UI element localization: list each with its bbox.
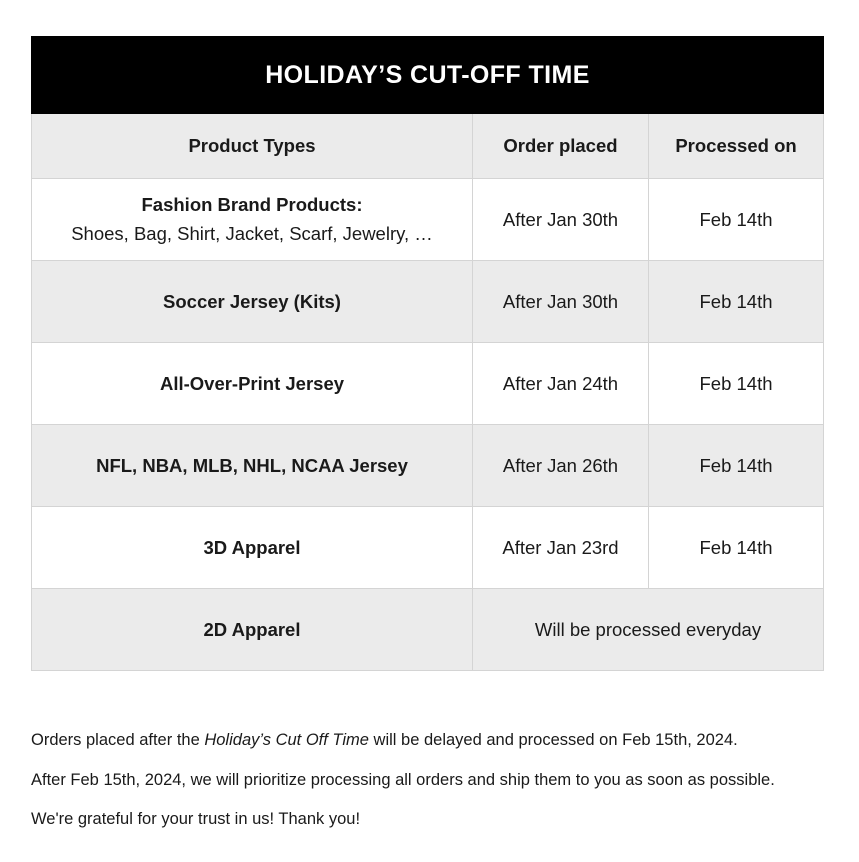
cell-product-type: All-Over-Print Jersey — [32, 343, 473, 425]
table-row: 3D Apparel After Jan 23rd Feb 14th — [32, 507, 824, 589]
cell-processed-on: Feb 14th — [649, 425, 824, 507]
footer-note-line-1-after: will be delayed and processed on Feb 15t… — [369, 731, 738, 749]
cell-product-type: NFL, NBA, MLB, NHL, NCAA Jersey — [32, 425, 473, 507]
table-row: Fashion Brand Products: Shoes, Bag, Shir… — [32, 179, 824, 261]
cell-product-type: Fashion Brand Products: Shoes, Bag, Shir… — [32, 179, 473, 261]
footer-note-line-1-before: Orders placed after the — [31, 731, 204, 749]
table-title-row: HOLIDAY’S CUT-OFF TIME — [32, 37, 824, 114]
footer-notes: Orders placed after the Holiday’s Cut Of… — [31, 732, 851, 828]
cell-order-placed: After Jan 24th — [473, 343, 649, 425]
column-header-product-types: Product Types — [32, 114, 473, 179]
footer-note-line-2: After Feb 15th, 2024, we will prioritize… — [31, 772, 851, 789]
footer-note-line-3: We're grateful for your trust in us! Tha… — [31, 811, 851, 828]
product-title: Fashion Brand Products: — [40, 191, 464, 220]
table-row: All-Over-Print Jersey After Jan 24th Feb… — [32, 343, 824, 425]
cell-product-type: 3D Apparel — [32, 507, 473, 589]
cell-order-placed: After Jan 23rd — [473, 507, 649, 589]
column-header-order-placed: Order placed — [473, 114, 649, 179]
product-subtitle: Shoes, Bag, Shirt, Jacket, Scarf, Jewelr… — [40, 220, 464, 249]
cell-product-type: Soccer Jersey (Kits) — [32, 261, 473, 343]
cell-processed-on: Feb 14th — [649, 507, 824, 589]
cell-order-placed: After Jan 30th — [473, 261, 649, 343]
footer-note-line-1: Orders placed after the Holiday’s Cut Of… — [31, 732, 851, 749]
table-row: 2D Apparel Will be processed everyday — [32, 589, 824, 671]
table-row: Soccer Jersey (Kits) After Jan 30th Feb … — [32, 261, 824, 343]
table-title-cell: HOLIDAY’S CUT-OFF TIME — [32, 37, 824, 114]
cell-merged-note: Will be processed everyday — [473, 589, 824, 671]
product-stack: Fashion Brand Products: Shoes, Bag, Shir… — [40, 191, 464, 248]
cell-processed-on: Feb 14th — [649, 261, 824, 343]
footer-note-emphasis: Holiday’s Cut Off Time — [204, 731, 369, 749]
cell-processed-on: Feb 14th — [649, 343, 824, 425]
page-root: HOLIDAY’S CUT-OFF TIME Product Types Ord… — [0, 0, 859, 862]
table-row: NFL, NBA, MLB, NHL, NCAA Jersey After Ja… — [32, 425, 824, 507]
cell-product-type: 2D Apparel — [32, 589, 473, 671]
table-header-row: Product Types Order placed Processed on — [32, 114, 824, 179]
cell-order-placed: After Jan 26th — [473, 425, 649, 507]
column-header-processed-on: Processed on — [649, 114, 824, 179]
cell-order-placed: After Jan 30th — [473, 179, 649, 261]
page-title: HOLIDAY’S CUT-OFF TIME — [265, 61, 590, 89]
holiday-cutoff-table: HOLIDAY’S CUT-OFF TIME Product Types Ord… — [31, 36, 824, 671]
cell-processed-on: Feb 14th — [649, 179, 824, 261]
